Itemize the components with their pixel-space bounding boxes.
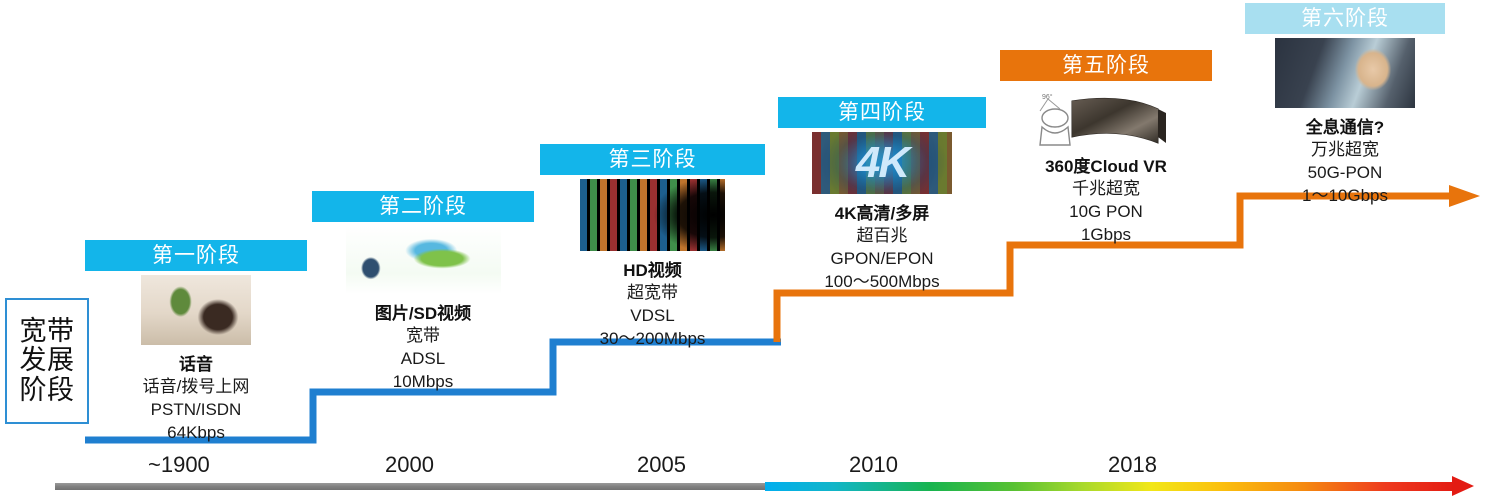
- stage-2: 第二阶段 图片/SD视频 宽带 ADSL 10Mbps: [312, 191, 534, 392]
- axis-year-2005: 2005: [637, 452, 686, 478]
- stage-5: 第五阶段 96° 360度Cloud: [1000, 50, 1212, 245]
- vr-headset-icon: 96°: [1026, 85, 1186, 147]
- stage-4: 第四阶段 4K高清/多屏 超百兆 GPON/EPON 100～500Mbps: [778, 97, 986, 292]
- stage-3-header: 第三阶段: [540, 144, 765, 175]
- stage-5-detail-3: 1Gbps: [1000, 224, 1212, 246]
- stage-3-detail-2: VDSL: [540, 305, 765, 327]
- axis-year-2010: 2010: [849, 452, 898, 478]
- stage-2-header: 第二阶段: [312, 191, 534, 222]
- stage-2-detail-2: ADSL: [312, 348, 534, 370]
- left-title-box: 宽带 发展 阶段: [5, 298, 89, 424]
- stage-2-title: 图片/SD视频: [312, 299, 534, 324]
- stage-6: 第六阶段 全息通信? 万兆超宽 50G-PON 1～10Gbps: [1245, 3, 1445, 206]
- stage-2-thumbnail-world-wide-web-photo: [346, 226, 501, 294]
- stage-1-title: 话音: [85, 350, 307, 375]
- stage-4-detail-1: 超百兆: [778, 225, 986, 247]
- stage-3-thumbnail-video-wall-photo: [580, 179, 725, 251]
- left-title-line-2: 发展: [20, 346, 75, 375]
- broadband-evolution-timeline: 宽带 发展 阶段 第一阶段 话音 话音/拨号上网 PSTN/ISDN 64Kbp…: [0, 0, 1490, 503]
- stage-3-detail-1: 超宽带: [540, 282, 765, 304]
- stage-6-detail-1: 万兆超宽: [1245, 139, 1445, 161]
- stage-6-header: 第六阶段: [1245, 3, 1445, 34]
- stage-4-detail-3: 100～500Mbps: [778, 271, 986, 293]
- stage-4-detail-2: GPON/EPON: [778, 248, 986, 270]
- stage-6-thumbnail-holographic-call-photo: [1275, 38, 1415, 108]
- left-title-line-1: 宽带: [20, 317, 75, 346]
- stage-1: 第一阶段 话音 话音/拨号上网 PSTN/ISDN 64Kbps: [85, 240, 307, 443]
- stage-3: 第三阶段 HD视频 超宽带 VDSL 30～200Mbps: [540, 144, 765, 349]
- stage-4-header: 第四阶段: [778, 97, 986, 128]
- left-title-line-3: 阶段: [20, 376, 75, 405]
- stage-5-thumbnail-vr-headset-360-photo: 96°: [1026, 85, 1186, 147]
- stage-2-detail-3: 10Mbps: [312, 371, 534, 393]
- stage-4-title: 4K高清/多屏: [778, 199, 986, 224]
- axis-gray-segment: [55, 483, 767, 490]
- orange-arrow-head: [1449, 185, 1480, 207]
- stage-1-detail-1: 话音/拨号上网: [85, 376, 307, 398]
- stage-6-detail-2: 50G-PON: [1245, 162, 1445, 184]
- stage-5-detail-1: 千兆超宽: [1000, 178, 1212, 200]
- axis-gradient-segment: [765, 482, 1455, 491]
- stage-2-detail-1: 宽带: [312, 325, 534, 347]
- stage-1-detail-3: 64Kbps: [85, 422, 307, 444]
- axis-year-2000: 2000: [385, 452, 434, 478]
- axis-year-2018: 2018: [1108, 452, 1157, 478]
- stage-3-detail-3: 30～200Mbps: [540, 328, 765, 350]
- stage-5-header: 第五阶段: [1000, 50, 1212, 81]
- stage-5-title: 360度Cloud VR: [1000, 152, 1212, 177]
- stage-1-header: 第一阶段: [85, 240, 307, 271]
- stage-1-detail-2: PSTN/ISDN: [85, 399, 307, 421]
- stage-1-thumbnail-woman-on-phone-photo: [141, 275, 251, 345]
- axis-arrow-head: [1452, 476, 1474, 496]
- stage-6-title: 全息通信?: [1245, 113, 1445, 138]
- stage-3-title: HD视频: [540, 256, 765, 281]
- stage-5-detail-2: 10G PON: [1000, 201, 1212, 223]
- stage-6-detail-3: 1～10Gbps: [1245, 185, 1445, 207]
- axis-year-1900: ~1900: [148, 452, 210, 478]
- stage-4-thumbnail-4k-screen-photo: [812, 132, 952, 194]
